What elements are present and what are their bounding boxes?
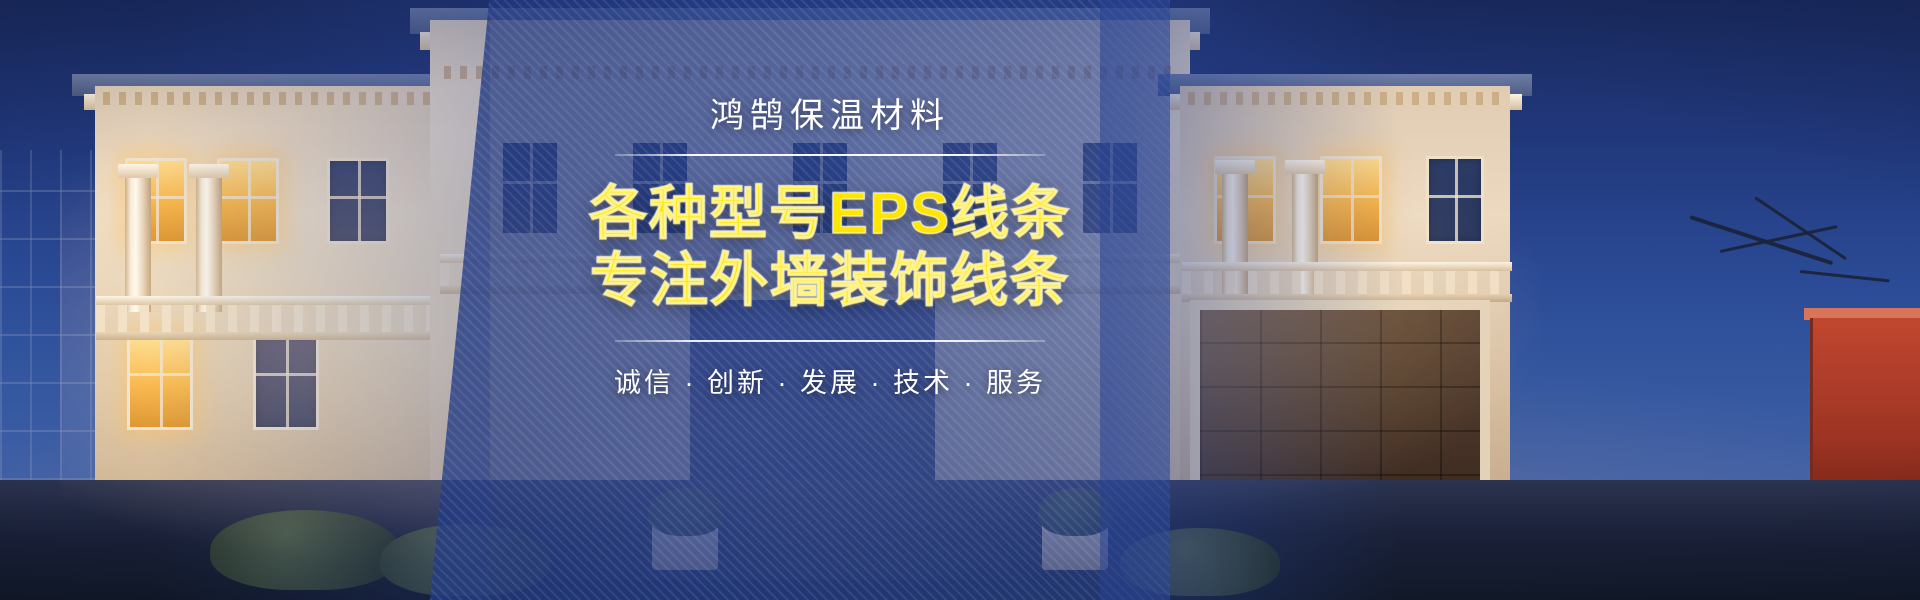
- banner-content: 鸿鹄保温材料 各种型号EPS线条 专注外墙装饰线条 诚信 · 创新 · 发展 ·…: [560, 96, 1100, 400]
- banner-root: 鸿鹄保温材料 各种型号EPS线条 专注外墙装饰线条 诚信 · 创新 · 发展 ·…: [0, 0, 1920, 600]
- tagline: 诚信 · 创新 · 发展 · 技术 · 服务: [560, 361, 1100, 400]
- headline-line-2: 专注外墙装饰线条: [560, 247, 1100, 314]
- brand-name: 鸿鹄保温材料: [560, 96, 1100, 137]
- divider-top: [615, 154, 1045, 156]
- headline-group: 各种型号EPS线条 专注外墙装饰线条: [560, 180, 1100, 315]
- divider-bottom: [615, 340, 1045, 342]
- headline-line-1: 各种型号EPS线条: [560, 180, 1100, 247]
